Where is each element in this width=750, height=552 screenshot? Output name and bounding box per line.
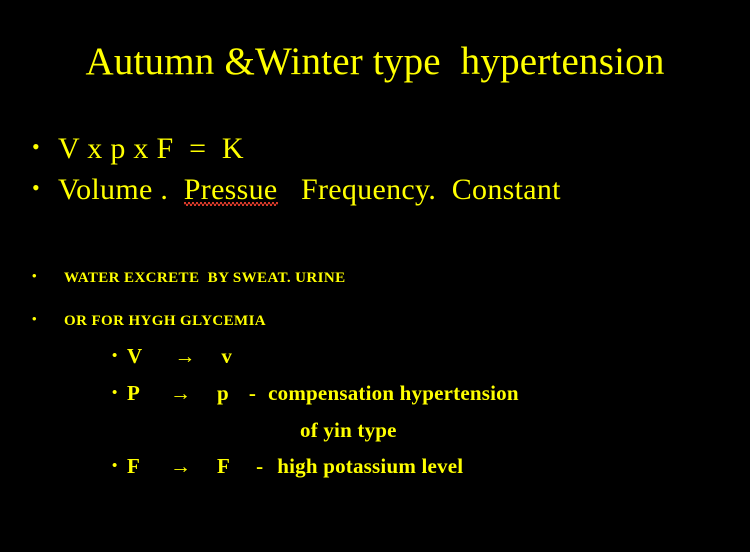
bullet-text-formula: V x p x F = K <box>58 132 244 166</box>
bullet-text-expansion: Volume . Pressue Frequency. Constant <box>58 173 561 207</box>
mapping-symbol-v: V <box>127 344 142 369</box>
bullet-dot-icon: • <box>112 349 127 364</box>
mapping-note-p: compensation hypertension <box>268 381 519 406</box>
bullet-item-formula: • V x p x F = K <box>32 132 244 166</box>
bullet-item-hygh-glycemia: • OR FOR HYGH GLYCEMIA <box>32 312 266 330</box>
bullet-item-volume-mapping: • V → v <box>112 344 232 369</box>
right-arrow-icon: → <box>174 344 195 369</box>
mapping-dash-p: - <box>249 381 256 406</box>
expansion-prefix: Volume . <box>58 173 184 206</box>
bullet-dot-icon: • <box>32 312 64 325</box>
bullet-dot-icon: • <box>32 269 64 282</box>
continuation-text-of-yin-type: of yin type <box>300 418 397 443</box>
bullet-item-expansion: • Volume . Pressue Frequency. Constant <box>32 173 561 207</box>
mapping-result-p: p <box>217 381 229 406</box>
right-arrow-icon: → <box>170 381 191 406</box>
mapping-note-f: high potassium level <box>277 454 463 479</box>
right-arrow-icon: → <box>170 454 191 479</box>
mapping-symbol-f: F <box>127 454 140 479</box>
bullet-dot-icon: • <box>32 177 58 199</box>
mapping-symbol-p: P <box>127 381 140 406</box>
bullet-item-pressure-mapping: • P → p - compensation hypertension <box>112 381 519 406</box>
mapping-dash-f: - <box>256 454 263 479</box>
bullet-item-water-excrete: • WATER EXCRETE BY SWEAT. URINE <box>32 269 346 287</box>
bullet-item-frequency-mapping: • F → F - high potassium level <box>112 454 463 479</box>
misspelled-word-pressue: Pressue <box>184 173 278 207</box>
slide-canvas: Autumn &Winter type hypertension • V x p… <box>0 0 750 552</box>
bullet-text-water-excrete: WATER EXCRETE BY SWEAT. URINE <box>64 269 346 287</box>
bullet-dot-icon: • <box>112 386 127 401</box>
slide-title: Autumn &Winter type hypertension <box>0 40 750 84</box>
bullet-dot-icon: • <box>32 136 58 158</box>
bullet-dot-icon: • <box>112 459 127 474</box>
mapping-result-f: F <box>217 454 230 479</box>
bullet-text-hygh-glycemia: OR FOR HYGH GLYCEMIA <box>64 312 266 330</box>
expansion-suffix: Frequency. Constant <box>278 173 561 206</box>
mapping-result-v: v <box>221 344 232 369</box>
